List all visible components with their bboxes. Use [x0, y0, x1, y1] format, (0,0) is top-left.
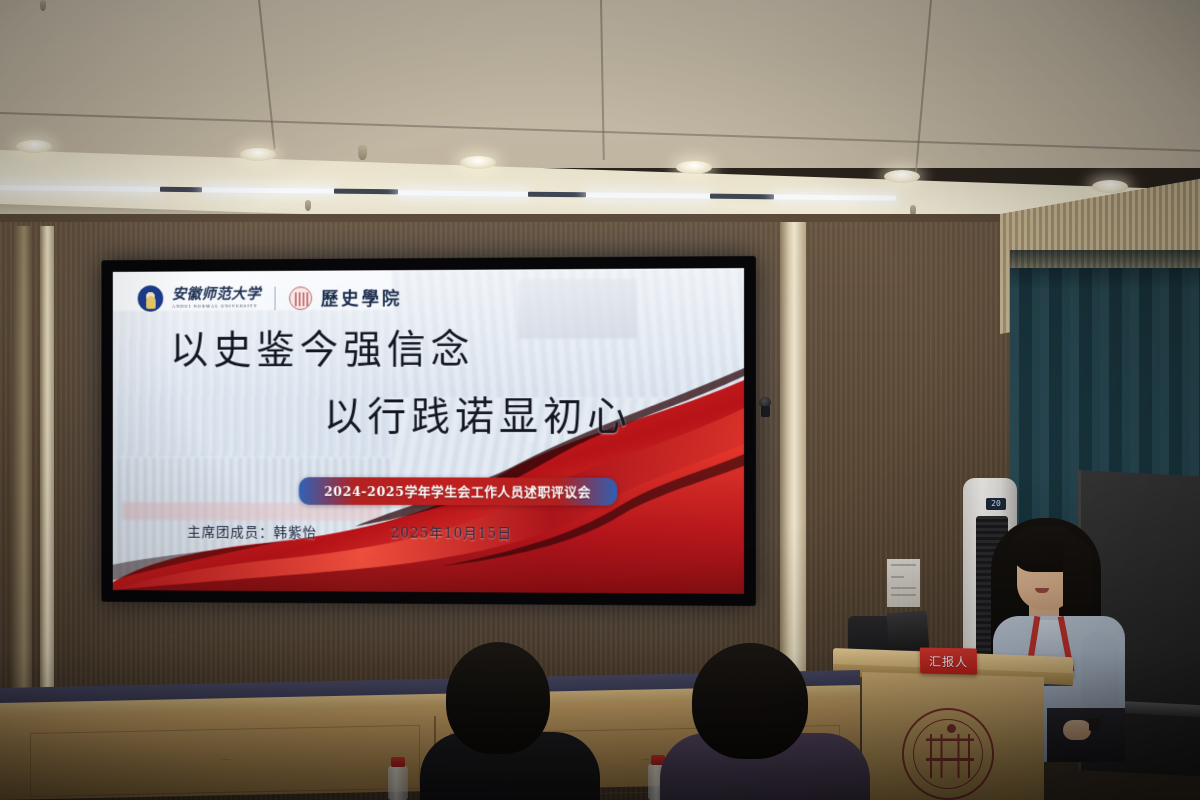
slide-title-block: 以史鉴今强信念 以行践诺显初心 [113, 316, 744, 442]
downlight-icon [676, 161, 712, 174]
air-conditioner-display: 20 [986, 498, 1006, 510]
strip-light-gap [334, 189, 398, 195]
audience-member-icon [420, 620, 600, 800]
slide-presenter-label: 主席团成员：韩紫怡 [187, 522, 317, 542]
curtain-shadow [1010, 250, 1200, 290]
wall-camera-icon [757, 397, 773, 417]
slide-date: 2025年10月15日 [391, 523, 512, 543]
downlight-icon [16, 140, 52, 153]
wall-pilaster [40, 226, 54, 696]
sprinkler-head-icon [358, 145, 367, 160]
wall-notice-icon [887, 559, 920, 607]
camera-mount [761, 406, 770, 417]
slide-meta-block: 主席团成员：韩紫怡 2025年10月15日 [187, 522, 512, 543]
university-name-block: 安徽师范大学 ANHUI NORMAL UNIVERSITY [172, 287, 261, 310]
presenter-placard-text: 汇报人 [929, 652, 968, 670]
slide-title-line1: 以史鉴今强信念 [170, 316, 744, 375]
downlight-icon [884, 170, 920, 183]
university-seal-icon [902, 708, 994, 800]
presentation-slide: 安徽师范大学 ANHUI NORMAL UNIVERSITY 歷史學院 以史鉴今… [113, 268, 744, 594]
stage-desk-panel [30, 725, 420, 797]
speaker-watch [1089, 718, 1100, 731]
sprinkler-head-icon [305, 200, 311, 211]
speaker-hand [1063, 720, 1091, 740]
sprinkler-head-icon [40, 0, 46, 11]
college-name-cn: 歷史學院 [321, 284, 402, 310]
led-display-screen[interactable]: 安徽师范大学 ANHUI NORMAL UNIVERSITY 歷史學院 以史鉴今… [101, 256, 756, 606]
college-seal-icon [289, 286, 312, 310]
slide-header: 安徽师范大学 ANHUI NORMAL UNIVERSITY 歷史學院 [138, 284, 403, 312]
wall-pilaster [12, 226, 32, 696]
header-divider [275, 286, 276, 310]
strip-light-gap [710, 194, 774, 200]
university-name-en: ANHUI NORMAL UNIVERSITY [172, 305, 261, 310]
presenter-placard: 汇报人 [920, 647, 977, 674]
downlight-icon [460, 156, 496, 169]
slide-subtitle-banner: 2024-2025学年学生会工作人员述职评议会 [299, 477, 617, 505]
university-crest-icon [138, 285, 164, 312]
university-name-cn: 安徽师范大学 [172, 287, 261, 302]
strip-light-gap [528, 192, 586, 198]
lecture-hall-scene: 20 [0, 0, 1200, 800]
slide-subtitle-text: 2024-2025学年学生会工作人员述职评议会 [324, 485, 591, 500]
water-bottle-icon [388, 766, 408, 800]
downlight-icon [240, 148, 276, 161]
audience-member-icon [660, 625, 870, 800]
strip-light-gap [160, 187, 202, 192]
slide-title-line2: 以行践诺显初心 [324, 384, 744, 442]
downlight-icon [1092, 180, 1128, 193]
